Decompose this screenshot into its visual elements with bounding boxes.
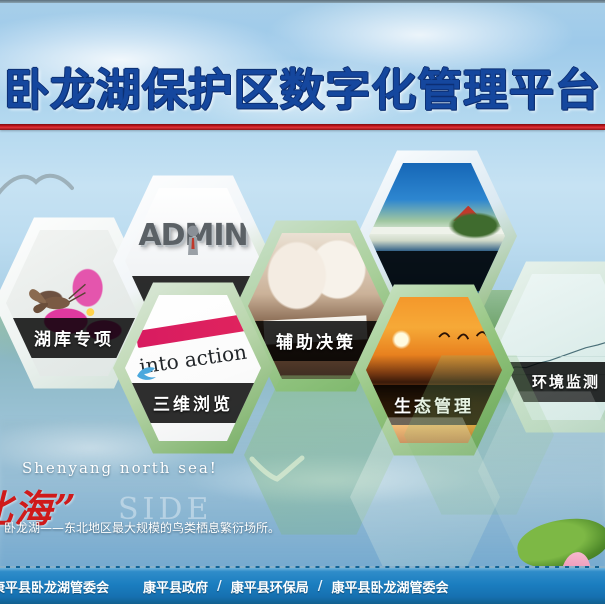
hero-caption: 卧龙湖——东北地区最大规模的鸟类栖息繁衍场所。 <box>4 519 280 536</box>
page-title-container: 卧龙湖保护区数字化管理平台 <box>0 50 605 122</box>
footer-links: 康平县政府 / 康平县环保局 / 康平县卧龙湖管委会 <box>143 577 449 596</box>
chess-pawn-icon <box>185 225 201 259</box>
footer-separator: / <box>217 579 222 594</box>
top-edge-line <box>0 0 605 3</box>
footer-link-government[interactable]: 康平县政府 <box>143 577 208 596</box>
footer-link-environment-bureau[interactable]: 康平县环保局 <box>231 577 309 596</box>
page-title: 卧龙湖保护区数字化管理平台 <box>4 54 601 118</box>
hero-english-tagline: Shenyang north sea! <box>22 459 218 477</box>
header-divider <box>0 124 605 130</box>
footer-owner: 康平县卧龙湖管委会 <box>0 577 109 596</box>
footer-bar: 康平县卧龙湖管委会 康平县政府 / 康平县环保局 / 康平县卧龙湖管委会 <box>0 566 605 604</box>
footer-link-wolonghu-committee[interactable]: 康平县卧龙湖管委会 <box>332 577 449 596</box>
moth-icon <box>25 273 88 325</box>
bird-logo-icon <box>136 365 158 381</box>
page-root: 卧龙湖保护区数字化管理平台 环境监测 <box>0 0 605 604</box>
footer-separator: / <box>318 579 323 594</box>
